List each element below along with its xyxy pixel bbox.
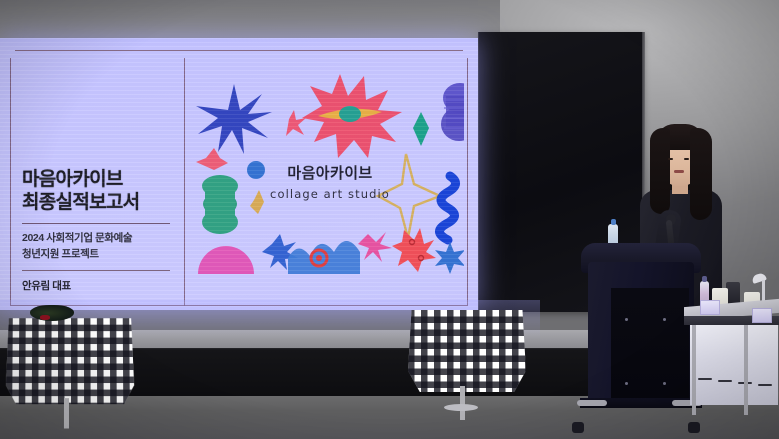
pink-x-cross-icon <box>358 232 392 262</box>
table-centerpiece-wreath <box>30 305 74 321</box>
presenter-hair-right <box>690 128 712 220</box>
slide-title-line-1: 마음아카이브 <box>22 168 172 191</box>
side-table-leg-right <box>744 325 748 415</box>
slide-subtitle-line-1: 2024 사회적기업 문화예술 <box>22 231 172 246</box>
teal-diamond-icon <box>413 112 429 146</box>
gingham-tablecloth-right <box>408 310 526 392</box>
name-placard-1 <box>700 300 720 315</box>
presenter-hair-left <box>650 128 670 214</box>
lectern-fastener-bottom-right <box>663 382 666 385</box>
slide-rule-under-subtitle <box>22 270 170 271</box>
table-left-stem <box>64 398 69 428</box>
presenter-eye-left <box>668 158 673 160</box>
lectern-fastener-bottom-left <box>625 382 628 385</box>
presenter-mouth <box>674 170 684 173</box>
skirt-mark-1 <box>698 378 712 380</box>
lectern-leg-left <box>577 400 607 406</box>
slide-left-column: 마음아카이브 최종실적보고서 2024 사회적기업 문화예술 청년지원 프로젝트… <box>22 168 172 293</box>
pink-five-point-star-icon <box>286 110 306 136</box>
blue-eight-point-starburst-icon <box>196 84 272 154</box>
blue-hills-icon <box>288 241 360 274</box>
round-table-right <box>408 310 526 392</box>
lectern-caster-left <box>572 422 584 433</box>
slide-top-rule <box>15 50 463 51</box>
slide-presenter-name: 안유림 대표 <box>22 278 172 293</box>
slide-column-divider <box>184 58 185 306</box>
table-right-stem <box>460 386 465 420</box>
slide-art-panel: 마음아카이브 collage art studio <box>188 62 464 302</box>
brand-tagline-english: collage art studio <box>240 187 420 201</box>
projection-screen: 마음아카이브 최종실적보고서 2024 사회적기업 문화예술 청년지원 프로젝트… <box>0 38 478 310</box>
brand-lockup: 마음아카이브 collage art studio <box>240 166 420 201</box>
lectern-fastener-top-right <box>663 318 666 321</box>
round-table-left <box>6 318 135 404</box>
gingham-tablecloth-left <box>6 318 135 404</box>
purple-double-blob-icon <box>441 83 464 141</box>
lectern-caster-right <box>688 422 700 433</box>
skirt-mark-4 <box>758 384 772 386</box>
name-placard-2 <box>752 308 772 323</box>
blue-six-point-star-icon <box>435 242 464 274</box>
slide-subtitle-line-2: 청년지원 프로젝트 <box>22 247 172 262</box>
side-table-thermos <box>726 282 740 304</box>
pink-semicircle-icon <box>198 246 254 274</box>
green-stacked-blobs-icon <box>202 175 238 234</box>
lectern-fastener-top-left <box>625 318 628 321</box>
screenshot-stage: 마음아카이브 최종실적보고서 2024 사회적기업 문화예술 청년지원 프로젝트… <box>0 0 779 439</box>
lectern-body <box>588 262 694 407</box>
presenter-eye-right <box>684 158 689 160</box>
brand-name-korean: 마음아카이브 <box>240 166 420 183</box>
blue-zigzag-icon <box>439 176 455 240</box>
side-table-leg-left <box>692 325 696 415</box>
red-poinsettia-star-icon <box>302 74 402 158</box>
side-table-modesty-panel <box>690 325 778 405</box>
skirt-mark-2 <box>718 380 732 382</box>
screen-top-glow <box>0 38 478 48</box>
pink-diamond-star-icon <box>196 148 228 170</box>
red-arrow-leaf-icon <box>392 228 436 272</box>
slide-rule-under-title <box>22 223 170 224</box>
slide-title-line-2: 최종실적보고서 <box>22 191 172 214</box>
lectern-front-panel <box>611 288 689 400</box>
table-right-base <box>444 404 478 411</box>
